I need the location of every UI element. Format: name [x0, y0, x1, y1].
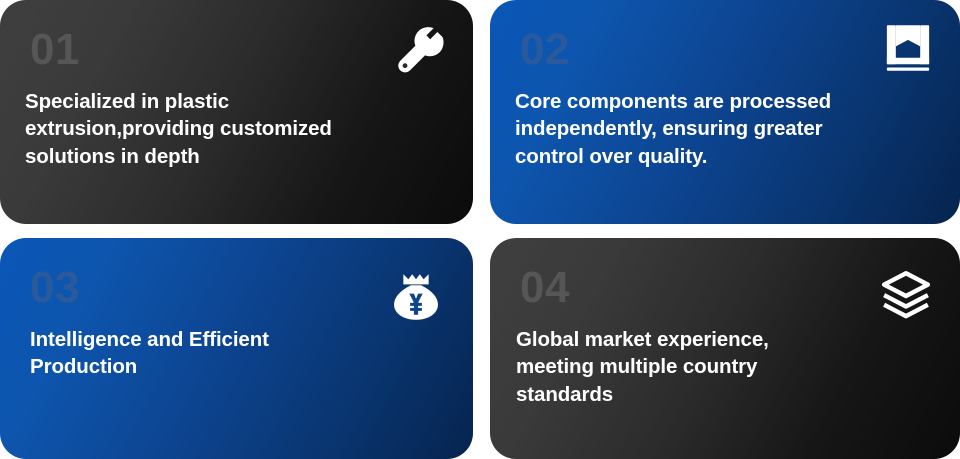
card-number-02: 02 [520, 28, 934, 72]
card-number-01: 01 [30, 28, 447, 72]
card-number-03: 03 [30, 266, 447, 310]
wrench-icon [393, 24, 445, 76]
book-bookmark-icon [882, 22, 934, 74]
card-text-04: Global market experience, meeting multip… [516, 326, 934, 408]
feature-card-grid: 01 Specialized in plastic extrusion,prov… [0, 0, 960, 459]
feature-card-01[interactable]: 01 Specialized in plastic extrusion,prov… [0, 0, 473, 224]
money-bag-yen-icon [389, 270, 443, 324]
card-text-03: Intelligence and Efficient Production [30, 326, 447, 381]
feature-card-04[interactable]: 04 Global market experience, meeting mul… [490, 238, 960, 459]
card-text-01: Specialized in plastic extrusion,providi… [25, 88, 445, 170]
card-text-02: Core components are processed independen… [515, 88, 934, 170]
feature-card-02[interactable]: 02 Core components are processed indepen… [490, 0, 960, 224]
feature-card-03[interactable]: 03 Intelligence and Efficient Production [0, 238, 473, 459]
card-number-04: 04 [520, 266, 934, 310]
layers-stack-icon [878, 268, 934, 324]
